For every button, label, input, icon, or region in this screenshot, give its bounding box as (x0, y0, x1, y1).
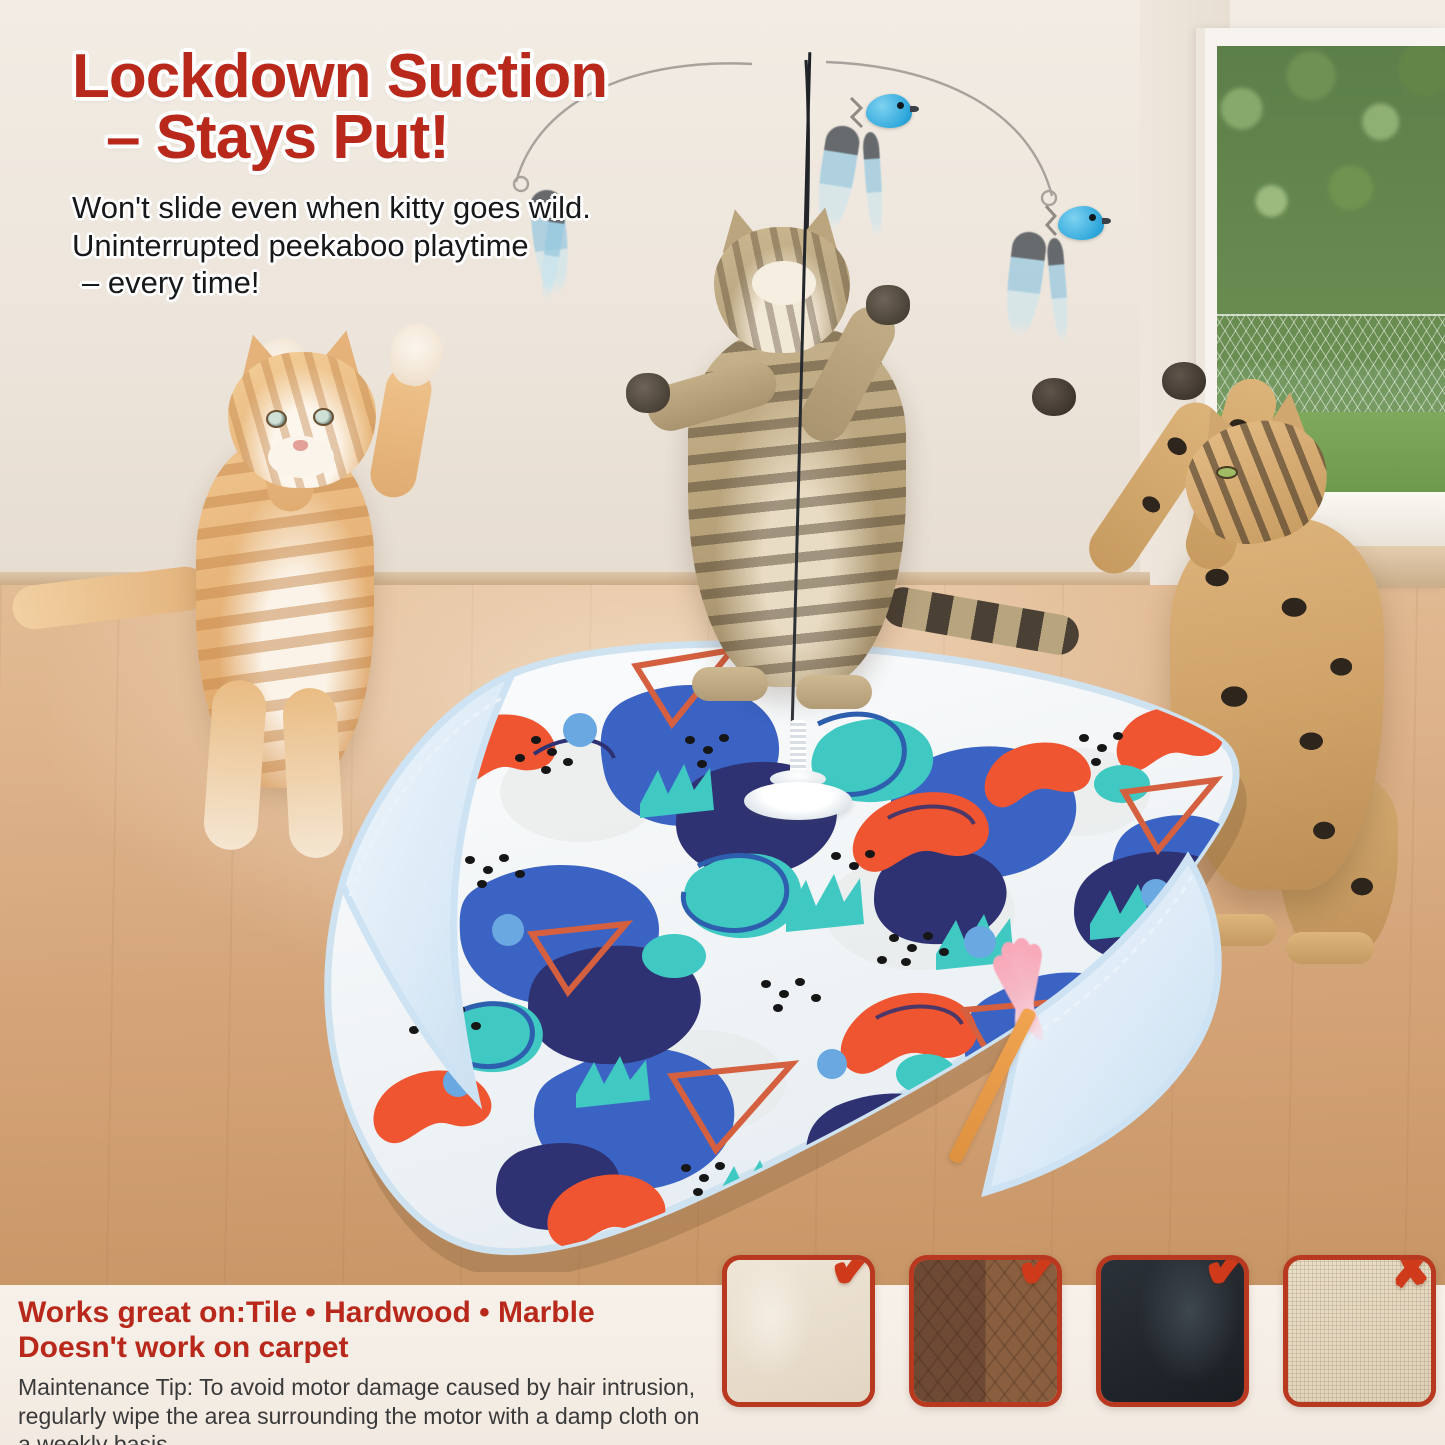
headline-line-2: – Stays Put! (72, 107, 792, 168)
subhead-line-3: – every time! (72, 264, 792, 302)
bird-toy-right (1058, 206, 1104, 240)
bengal-paw-right (1162, 362, 1206, 400)
headline-block: Lockdown Suction – Stays Put! Won't slid… (72, 46, 792, 302)
banner-text-block: Works great on:Tile • Hardwood • Marble … (18, 1295, 718, 1445)
pink-feather-toy (952, 938, 1172, 1138)
check-icon-marble: ✔ (1202, 1255, 1249, 1298)
ginger-arm-right (367, 363, 435, 501)
maintenance-tip: Maintenance Tip: To avoid motor damage c… (18, 1373, 718, 1445)
swatch-hardwood[interactable]: ✔ (909, 1255, 1062, 1407)
page-title: Lockdown Suction – Stays Put! (72, 46, 792, 169)
bird-body (866, 94, 912, 128)
ginger-eye-left (266, 410, 287, 428)
tabby-paw-up (866, 285, 910, 325)
banner-title: Works great on:Tile • Hardwood • Marble … (18, 1295, 718, 1365)
surface-compatibility-swatches: ✔ ✔ ✔ ✘ (722, 1255, 1436, 1420)
bengal-paw-left (1032, 378, 1076, 416)
bengal-foot-right (1286, 932, 1374, 964)
headline-line-1: Lockdown Suction (72, 42, 607, 111)
ginger-nose (293, 440, 308, 451)
motor-suction-cup (744, 782, 852, 820)
bird-beak (1102, 218, 1111, 224)
bird-beak (910, 106, 919, 112)
tabby-foot-right (796, 675, 872, 709)
bird-body (1058, 206, 1104, 240)
tabby-foot-left (692, 667, 768, 701)
subhead-line-2: Uninterrupted peekaboo playtime (72, 227, 792, 265)
product-listing-image: Lockdown Suction – Stays Put! Won't slid… (0, 0, 1445, 1445)
ginger-eye-right (313, 408, 334, 426)
suction-motor-base (742, 742, 852, 822)
subheadline-block: Won't slide even when kitty goes wild. U… (72, 189, 792, 302)
ginger-leg-left (202, 678, 268, 851)
swatch-marble[interactable]: ✔ (1096, 1255, 1249, 1407)
swatch-carpet[interactable]: ✘ (1283, 1255, 1436, 1407)
bird-toy-center (866, 94, 912, 128)
doesnt-work-line: Doesn't work on carpet (18, 1330, 718, 1365)
cross-icon-carpet: ✘ (1390, 1255, 1435, 1296)
check-icon-tile: ✔ (828, 1255, 875, 1298)
subhead-line-1: Won't slide even when kitty goes wild. (72, 190, 591, 225)
bengal-eye (1216, 466, 1238, 479)
tabby-paw-out (626, 373, 670, 413)
check-icon-hardwood: ✔ (1015, 1255, 1062, 1298)
works-great-on-line: Works great on:Tile • Hardwood • Marble (18, 1296, 595, 1329)
swatch-tile[interactable]: ✔ (722, 1255, 875, 1407)
